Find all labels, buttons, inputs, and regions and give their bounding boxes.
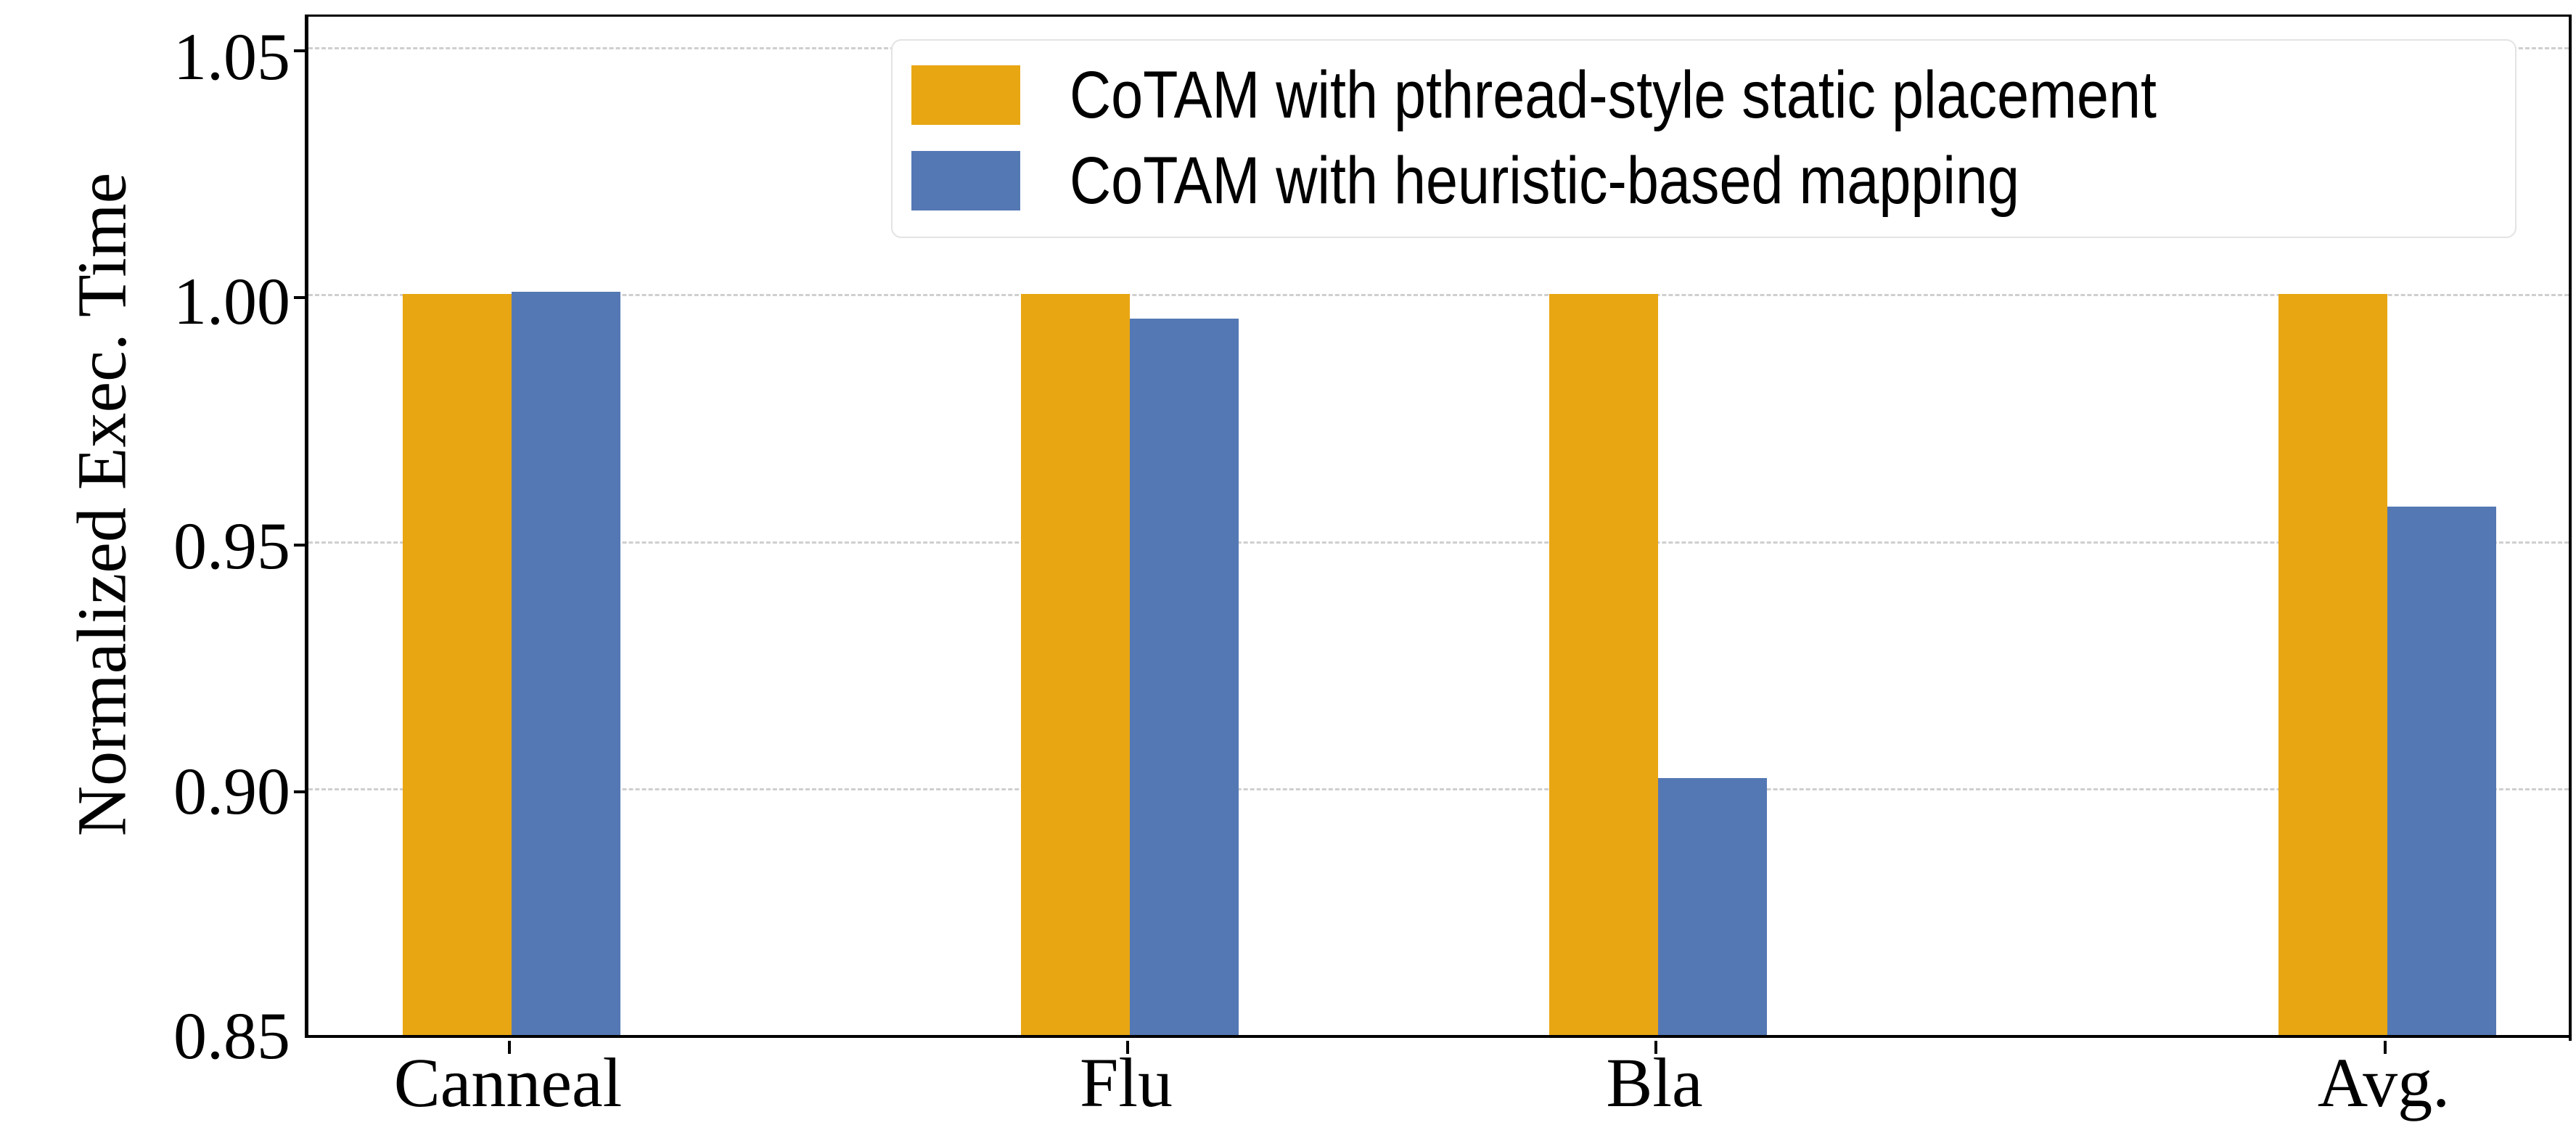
legend-swatch-icon-series-a (911, 65, 1020, 125)
x-tick-label-avg: Avg. (2318, 1047, 2450, 1120)
chart-legend: CoTAM with pthread-style static placemen… (891, 39, 2516, 238)
legend-swatch-icon-series-b (911, 151, 1020, 210)
bar-flu-series-a (1021, 294, 1130, 1035)
bar-canneal-series-b (512, 292, 620, 1035)
bar-bla-series-a (1549, 294, 1658, 1035)
x-tick-label-flu: Flu (1080, 1047, 1173, 1120)
y-tick-label-090: 0.90 (173, 758, 290, 825)
legend-item-1[interactable]: CoTAM with heuristic-based mapping (911, 138, 2496, 224)
gridline-090 (308, 788, 2569, 790)
legend-item-0[interactable]: CoTAM with pthread-style static placemen… (911, 52, 2496, 138)
y-axis-title: Normalized Exec. Time (62, 0, 142, 1012)
y-tick-mark-105 (294, 49, 308, 52)
y-tick-mark-090 (294, 790, 308, 793)
y-tick-mark-095 (294, 544, 308, 547)
plot-right-spine (2569, 15, 2572, 1041)
y-tick-label-085: 0.85 (173, 1002, 290, 1069)
legend-label-series-a: CoTAM with pthread-style static placemen… (1070, 62, 2157, 128)
bar-canneal-series-a (403, 294, 512, 1035)
bar-bla-series-b (1658, 778, 1767, 1035)
bar-avg-series-b (2387, 507, 2496, 1035)
legend-label-series-b: CoTAM with heuristic-based mapping (1070, 147, 2019, 214)
bar-avg-series-a (2278, 294, 2387, 1035)
y-tick-label-100: 1.00 (173, 268, 290, 335)
x-tick-label-canneal: Canneal (394, 1047, 623, 1120)
x-tick-label-bla: Bla (1606, 1047, 1702, 1120)
y-tick-label-105: 1.05 (173, 23, 290, 90)
gridline-095 (308, 541, 2569, 544)
bar-flu-series-b (1130, 319, 1239, 1035)
chart-figure: Normalized Exec. Time 1.05 1.00 0.95 0.9… (0, 0, 2576, 1125)
y-tick-mark-100 (294, 296, 308, 299)
y-tick-label-095: 0.95 (173, 512, 290, 579)
gridline-100 (308, 294, 2569, 296)
